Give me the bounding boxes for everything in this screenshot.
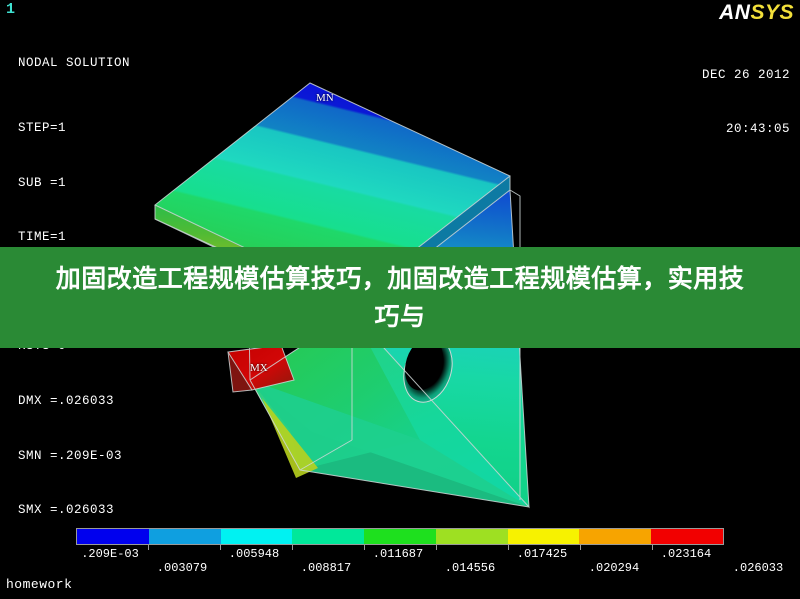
timestamp-time: 20:43:05 xyxy=(702,120,790,138)
colorbar-tick-label-2: .005948 xyxy=(229,547,279,561)
colorbar-tick-label-0: .209E-03 xyxy=(81,547,139,561)
footer-label: homework xyxy=(6,577,72,592)
colorbar-tick-label-4: .011687 xyxy=(373,547,423,561)
colorbar-swatch-5 xyxy=(436,529,508,544)
colorbar-swatch-2 xyxy=(221,529,293,544)
contour-tick-row-lower: .003079.008817.014556.020294.026033 xyxy=(76,561,724,575)
contour-colorbar[interactable] xyxy=(76,528,724,545)
model-min-label: MN xyxy=(316,92,334,104)
colorbar-tick-label-3: .008817 xyxy=(301,561,351,575)
colorbar-swatch-7 xyxy=(579,529,651,544)
timestamp-block: DEC 26 2012 20:43:05 xyxy=(702,30,790,174)
frame-number-label: 1 xyxy=(6,1,16,18)
overlay-banner: 加固改造工程规模估算技巧，加固改造工程规模估算，实用技巧与 xyxy=(0,247,800,348)
colorbar-tick-mark-1 xyxy=(148,545,149,550)
colorbar-swatch-8 xyxy=(651,529,723,544)
solution-line-sub: SUB =1 xyxy=(18,174,130,192)
colorbar-swatch-1 xyxy=(149,529,221,544)
colorbar-swatch-3 xyxy=(292,529,364,544)
colorbar-tick-label-9: .026033 xyxy=(733,561,783,575)
solution-title: NODAL SOLUTION xyxy=(18,54,130,72)
colorbar-tick-mark-7 xyxy=(580,545,581,550)
colorbar-tick-mark-6 xyxy=(508,545,509,550)
colorbar-swatch-4 xyxy=(364,529,436,544)
ansys-viewport-screenshot: MN MX 1 NODAL SOLUTION STEP=1 SUB =1 TIM… xyxy=(0,0,800,599)
overlay-banner-text: 加固改造工程规模估算技巧，加固改造工程规模估算，实用技巧与 xyxy=(50,260,750,336)
ansys-logo-an: AN xyxy=(719,1,750,24)
colorbar-tick-label-1: .003079 xyxy=(157,561,207,575)
solution-line-step: STEP=1 xyxy=(18,119,130,137)
model-max-label: MX xyxy=(250,362,268,374)
colorbar-tick-label-6: .017425 xyxy=(517,547,567,561)
colorbar-tick-mark-8 xyxy=(652,545,653,550)
ansys-logo-sys: SYS xyxy=(750,1,794,24)
colorbar-tick-mark-4 xyxy=(364,545,365,550)
colorbar-swatch-0 xyxy=(77,529,149,544)
colorbar-swatch-6 xyxy=(508,529,580,544)
contour-tick-row-upper: .209E-03.005948.011687.017425.023164 xyxy=(76,547,724,561)
colorbar-tick-label-8: .023164 xyxy=(661,547,711,561)
timestamp-date: DEC 26 2012 xyxy=(702,66,790,84)
solution-line-time: TIME=1 xyxy=(18,228,130,246)
ansys-logo: ANSYS xyxy=(719,1,794,25)
colorbar-tick-mark-2 xyxy=(220,545,221,550)
colorbar-tick-label-7: .020294 xyxy=(589,561,639,575)
solution-line-smn: SMN =.209E-03 xyxy=(18,447,130,465)
colorbar-tick-mark-3 xyxy=(292,545,293,550)
colorbar-tick-label-5: .014556 xyxy=(445,561,495,575)
colorbar-tick-mark-5 xyxy=(436,545,437,550)
contour-legend: .209E-03.005948.011687.017425.023164 .00… xyxy=(76,528,724,545)
solution-line-dmx: DMX =.026033 xyxy=(18,392,130,410)
solution-line-smx: SMX =.026033 xyxy=(18,501,130,519)
